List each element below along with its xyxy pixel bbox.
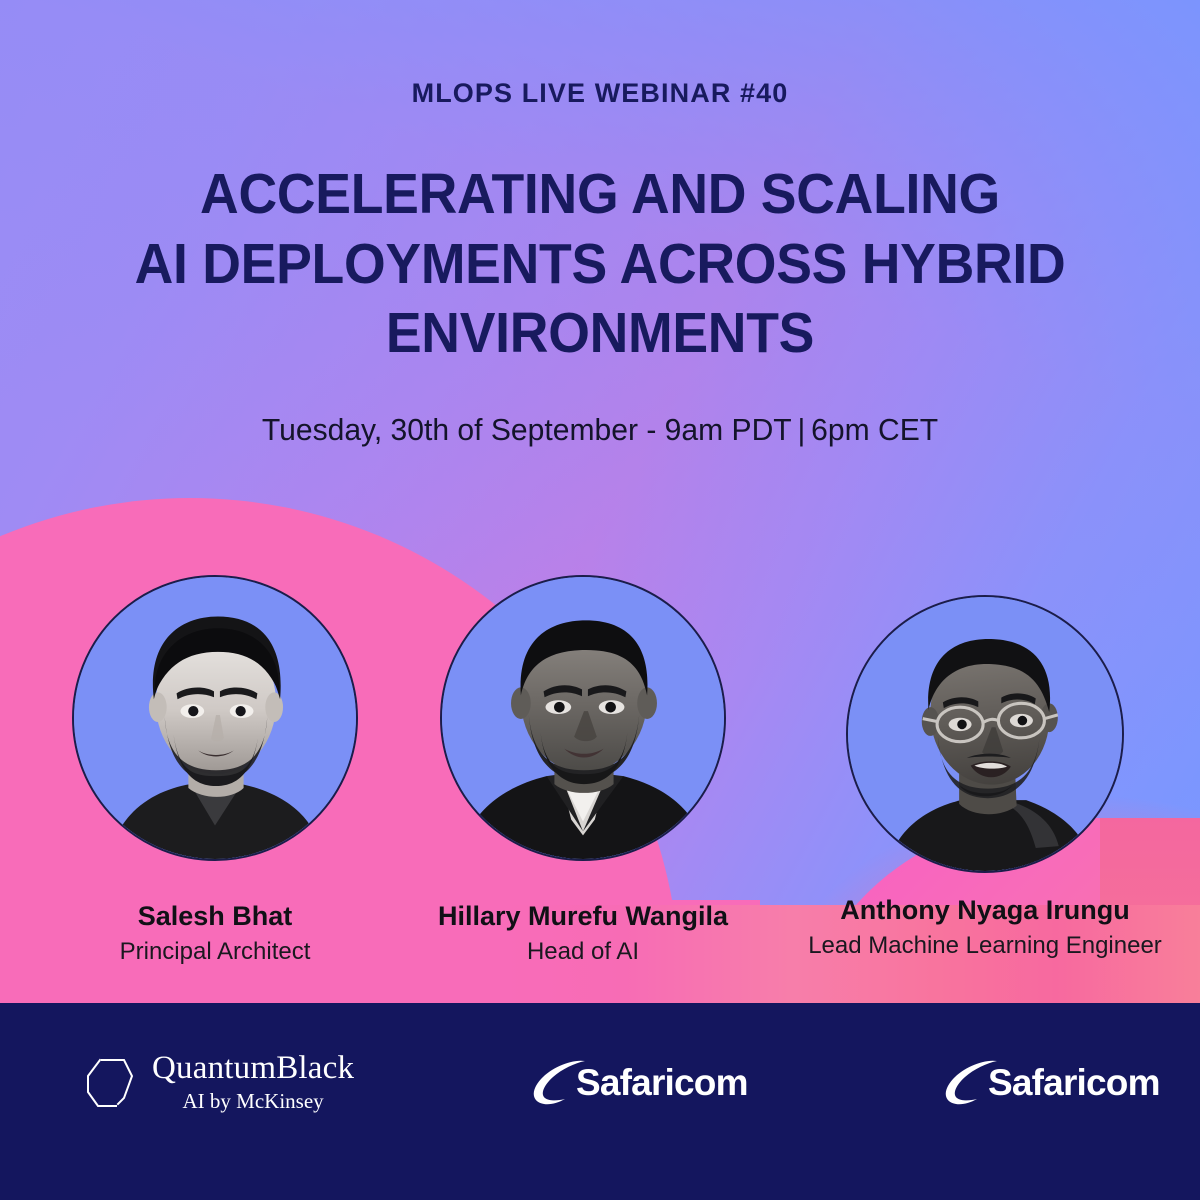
speaker-name: Hillary Murefu Wangila: [383, 901, 783, 932]
avatar: [846, 595, 1124, 873]
logo-quantumblack: QuantumBlack AI by McKinsey: [78, 1039, 354, 1127]
logo-safaricom-1: Safaricom: [528, 1039, 748, 1127]
logo-safaricom-name: Safaricom: [988, 1062, 1160, 1104]
speaker-card: Anthony Nyaga Irungu Lead Machine Learni…: [785, 575, 1185, 960]
title-line-2: AI DEPLOYMENTS ACROSS HYBRID: [92, 230, 1107, 300]
logo-safaricom-name: Safaricom: [576, 1062, 748, 1104]
event-datetime: Tuesday, 30th of September - 9am PDT|6pm…: [18, 412, 1182, 448]
logo-quantumblack-tagline: AI by McKinsey: [183, 1088, 324, 1114]
footer-logo-bar: QuantumBlack AI by McKinsey Safaricom: [0, 1003, 1200, 1200]
speaker-role: Principal Architect: [15, 938, 415, 966]
headshot-salesh-bhat: [74, 577, 356, 859]
speaker-role: Head of AI: [383, 938, 783, 966]
event-datetime-secondary: 6pm CET: [811, 412, 938, 447]
headshot-hillary-murefu-wangila: [442, 577, 724, 859]
speaker-card: Salesh Bhat Principal Architect: [15, 575, 415, 966]
logo-safaricom-2: Safaricom: [940, 1039, 1160, 1127]
webinar-eyebrow: MLOPS LIVE WEBINAR #40: [0, 78, 1200, 109]
event-datetime-primary: Tuesday, 30th of September - 9am PDT: [262, 412, 792, 447]
avatar: [440, 575, 726, 861]
page-title: ACCELERATING AND SCALING AI DEPLOYMENTS …: [92, 160, 1107, 369]
title-line-1: ACCELERATING AND SCALING: [92, 160, 1107, 230]
hexagon-bracket-icon: [78, 1052, 140, 1114]
webinar-poster: MLOPS LIVE WEBINAR #40 ACCELERATING AND …: [0, 0, 1200, 1200]
speaker-name: Salesh Bhat: [15, 901, 415, 932]
logo-quantumblack-name: QuantumBlack: [152, 1052, 354, 1085]
avatar: [72, 575, 358, 861]
speaker-name: Anthony Nyaga Irungu: [785, 895, 1185, 926]
title-line-3: ENVIRONMENTS: [92, 299, 1107, 369]
datetime-separator: |: [792, 412, 811, 448]
speaker-card: Hillary Murefu Wangila Head of AI: [383, 575, 783, 966]
headshot-anthony-nyaga-irungu: [848, 597, 1122, 871]
speaker-role: Lead Machine Learning Engineer: [785, 932, 1185, 960]
speaker-list: Salesh Bhat Principal Architect: [0, 575, 1200, 1005]
logo-row: QuantumBlack AI by McKinsey Safaricom: [0, 1039, 1200, 1127]
